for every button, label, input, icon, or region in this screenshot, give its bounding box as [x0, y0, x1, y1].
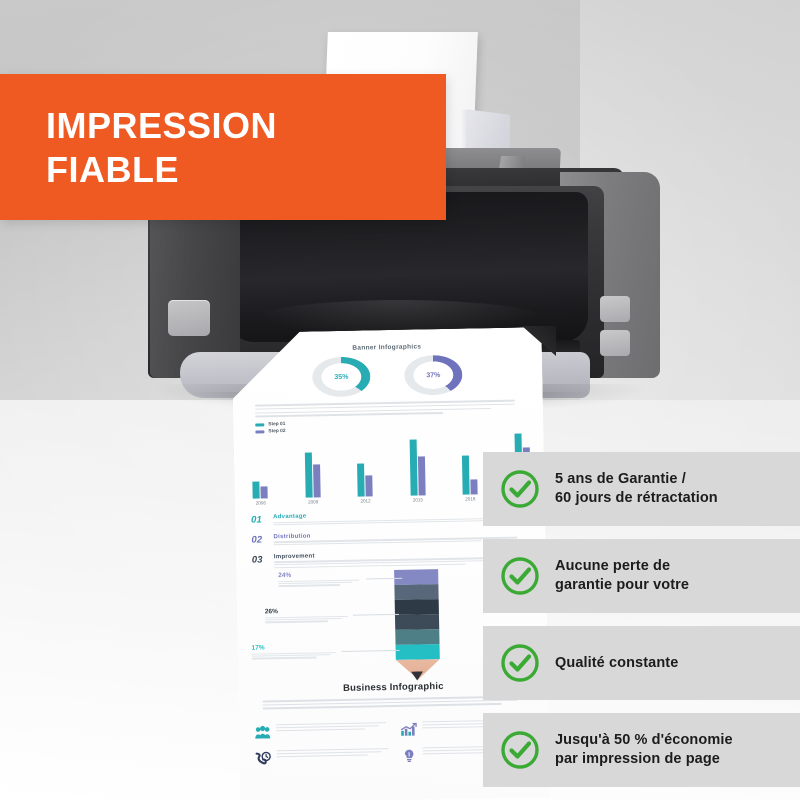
check-circle-icon [499, 642, 541, 684]
bar-group [304, 453, 320, 498]
legend-item: Step 01 [255, 422, 285, 428]
headline-text: IMPRESSION FIABLE [46, 104, 277, 192]
bar [357, 464, 365, 497]
feature-callout-text: Jusqu'à 50 % d'économiepar impression de… [555, 731, 733, 768]
pyramid-callout: 17% [252, 643, 340, 661]
list-number: 01 [251, 514, 267, 525]
bar [260, 487, 267, 499]
feature-callout-text: 5 ans de Garantie /60 jours de rétractat… [555, 470, 718, 507]
feature-callout-line-2: garantie pour votre [555, 577, 689, 593]
x-axis-tick-label: 2018 [462, 496, 478, 501]
check-circle-icon [499, 468, 541, 510]
feature-callout-line-2: par impression de page [555, 751, 720, 767]
pyramid-callout: 26% [265, 607, 353, 625]
donut-chart: 35% [312, 356, 371, 397]
bar-group [462, 456, 478, 495]
feature-callout[interactable]: Aucune perte degarantie pour votre [483, 539, 800, 613]
feature-callout-line-1: Qualité constante [555, 655, 678, 671]
legend-label: Step 02 [268, 429, 285, 434]
pencil-segment [394, 584, 438, 600]
bar [365, 475, 372, 496]
legend-swatch [255, 430, 264, 433]
donut-value: 35% [312, 356, 371, 397]
callout-separator-notch [482, 700, 572, 713]
icon-feature-item [254, 748, 394, 767]
legend-label: Step 01 [268, 422, 285, 427]
feature-callout[interactable]: Jusqu'à 50 % d'économiepar impression de… [483, 713, 800, 787]
feature-callout-line-2: 60 jours de rétractation [555, 490, 718, 506]
printer-left-button[interactable] [168, 300, 210, 336]
list-number: 02 [251, 534, 267, 545]
feature-callout-line-1: Aucune perte de [555, 558, 670, 574]
feature-callout-line-1: Jusqu'à 50 % d'économie [555, 732, 733, 748]
list-number: 03 [252, 554, 268, 565]
placeholder-paragraph [255, 399, 523, 419]
feature-callout-text: Aucune perte degarantie pour votre [555, 557, 689, 594]
bar [409, 439, 417, 495]
marketing-banner-image: Banner Infographics 35% 37% Step 01 [0, 0, 800, 800]
bar [304, 453, 312, 498]
callout-separator-notch [482, 613, 572, 626]
pencil-shape [394, 569, 440, 680]
legend-swatch [255, 423, 264, 426]
lightbulb-idea-icon [400, 748, 418, 764]
bar-chart-growth-icon [399, 722, 417, 738]
check-circle-icon [499, 555, 541, 597]
people-group-icon [253, 724, 271, 740]
x-axis-tick-label: 2012 [358, 498, 374, 503]
printer-right-button-top[interactable] [600, 296, 630, 322]
check-circle-icon [499, 729, 541, 771]
feature-callout[interactable]: Qualité constante [483, 626, 800, 700]
feature-callout-list: 5 ans de Garantie /60 jours de rétractat… [483, 452, 800, 787]
bar [418, 457, 426, 496]
feature-callout[interactable]: 5 ans de Garantie /60 jours de rétractat… [483, 452, 800, 526]
clock-phone-icon [254, 750, 272, 766]
printer-right-button-bottom[interactable] [600, 330, 630, 356]
chart-legend: Step 01 Step 02 [255, 422, 285, 437]
feature-callout-text: Qualité constante [555, 654, 678, 673]
donut-chart-group: 35% 37% [232, 353, 543, 399]
pyramid-value: 26% [265, 607, 353, 616]
x-axis-tick-label: 2015 [410, 497, 426, 502]
callout-leader-line [342, 650, 400, 652]
donut-chart: 37% [404, 355, 463, 396]
feature-callout-line-1: 5 ans de Garantie / [555, 471, 686, 487]
bar [471, 479, 478, 495]
callout-leader-line [353, 614, 399, 616]
x-axis-tick-label: 2009 [305, 499, 321, 504]
pencil-segment [395, 629, 439, 645]
x-axis-tick-label: 2006 [253, 500, 269, 505]
bar-group [252, 481, 267, 499]
pyramid-value: 24% [278, 570, 366, 579]
pyramid-value: 17% [252, 643, 340, 652]
pencil-segment [396, 644, 440, 660]
bar-group [409, 439, 425, 495]
pyramid-callout: 24% [278, 570, 366, 588]
bar [313, 464, 321, 497]
pencil-segment [395, 599, 439, 615]
callout-separator-notch [482, 526, 572, 539]
bar-group [357, 463, 373, 496]
headline-line-1: IMPRESSION [46, 105, 277, 146]
donut-value: 37% [404, 355, 463, 396]
headline-line-2: FIABLE [46, 148, 277, 192]
bar [252, 481, 259, 499]
legend-item: Step 02 [255, 429, 285, 435]
pencil-segment [395, 614, 439, 630]
icon-feature-item [253, 722, 393, 741]
bar [462, 456, 470, 495]
headline-banner: IMPRESSION FIABLE [0, 74, 446, 220]
